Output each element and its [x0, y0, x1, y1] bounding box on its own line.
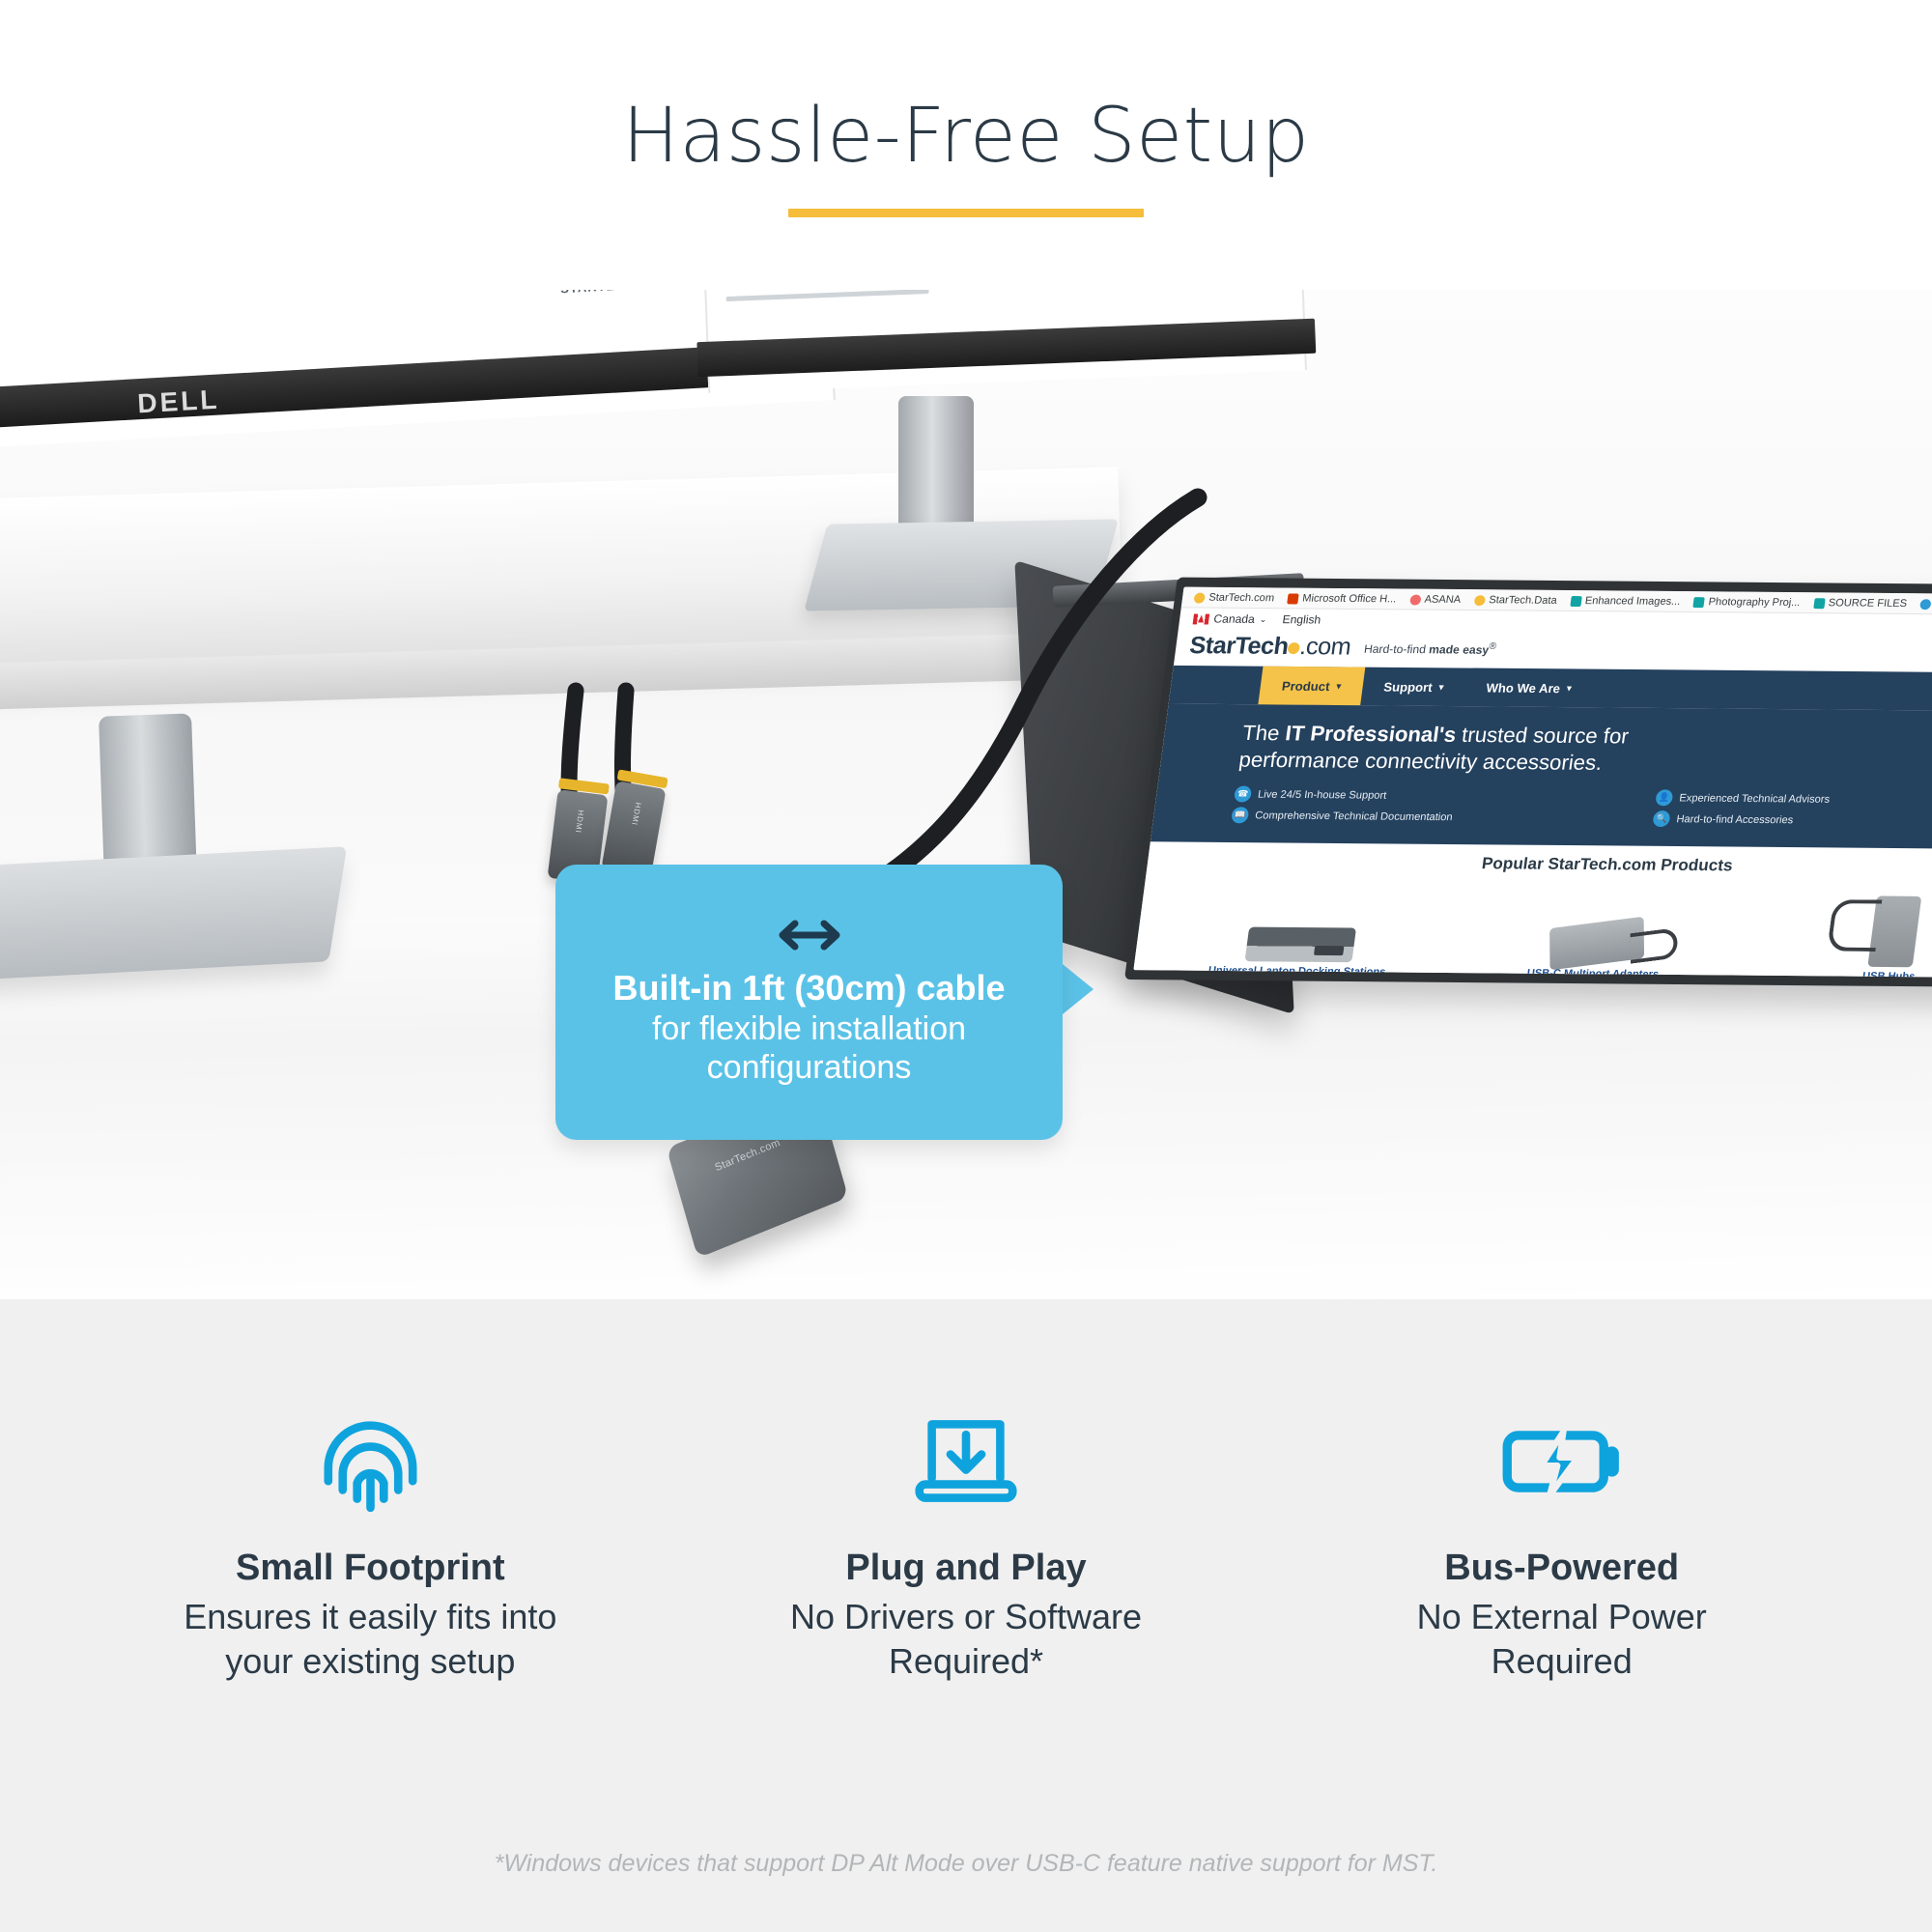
- bookmark-favicon-icon: [1194, 592, 1207, 603]
- bookmark-label: Enhanced Images...: [1584, 595, 1681, 608]
- laptop-screen-frame: StarTech.com Microsoft Office H... ASANA: [1124, 578, 1932, 988]
- bookmark-label: StarTech.com: [1208, 592, 1275, 604]
- country-selector[interactable]: Canada ⌄: [1192, 611, 1267, 626]
- products-row: Universal Laptop Docking Stations USB-C …: [1149, 878, 1932, 978]
- bookmark-label: Photography Proj...: [1708, 596, 1801, 609]
- bookmark-item[interactable]: StarTech.com: [1919, 598, 1932, 611]
- bookmark-item[interactable]: Microsoft Office H...: [1287, 592, 1397, 605]
- book-icon: 📖: [1231, 807, 1249, 823]
- bookmark-label: Microsoft Office H...: [1302, 593, 1398, 606]
- bookmark-favicon-icon: [1919, 599, 1932, 610]
- hero-bullet-label: Comprehensive Technical Documentation: [1255, 810, 1454, 823]
- bookmark-item[interactable]: ASANA: [1409, 594, 1462, 606]
- logo-text-secondary: .com: [1298, 633, 1352, 660]
- bookmark-item[interactable]: StarTech.com: [1193, 592, 1274, 605]
- person-icon: 👤: [1655, 789, 1673, 806]
- bookmark-favicon-icon: [1813, 598, 1826, 609]
- laptop-screen: StarTech.com Microsoft Office H... ASANA: [1133, 587, 1932, 979]
- language-selector[interactable]: English: [1282, 612, 1321, 626]
- feature-desc-line-2: Required: [1492, 1641, 1633, 1681]
- product-label: Universal Laptop Docking Stations: [1163, 964, 1431, 978]
- bookmark-favicon-icon: [1409, 594, 1422, 605]
- bookmark-favicon-icon: [1287, 593, 1299, 604]
- nav-item-product[interactable]: Product ▾: [1258, 667, 1365, 706]
- nav-item-support[interactable]: Support ▾: [1360, 668, 1467, 707]
- tagline-bold: made easy: [1428, 642, 1490, 656]
- plug-label: HDMI: [630, 802, 642, 827]
- fingerprint-icon: [315, 1406, 426, 1517]
- feature-desc: No External PowerRequired: [1417, 1595, 1707, 1684]
- marketing-page: Hassle-Free Setup Series 1 Series 1 Seri…: [0, 0, 1932, 1932]
- popular-products-section: Popular StarTech.com Products Universal …: [1133, 841, 1932, 978]
- product-card[interactable]: Universal Laptop Docking Stations: [1163, 878, 1442, 978]
- bookmark-item[interactable]: Enhanced Images...: [1570, 595, 1681, 608]
- bookmark-label: StarTech.Data: [1489, 594, 1558, 607]
- feature-desc-line-1: Ensures it easily fits into: [184, 1597, 556, 1636]
- hero-headline-a: The: [1241, 721, 1288, 745]
- tagline-trademark: ®: [1489, 640, 1497, 651]
- chevron-down-icon: ▾: [1566, 683, 1572, 694]
- feature-title: Plug and Play: [845, 1548, 1086, 1589]
- hero-bullet: 👤 Experienced Technical Advisors: [1655, 789, 1932, 809]
- hero-bullet: 🔍 Hard-to-find Accessories: [1652, 810, 1932, 830]
- hero-bullet: ☎ Live 24/5 In-house Support: [1234, 785, 1635, 805]
- logo-text-primary: StarTech: [1188, 632, 1291, 660]
- feature-desc-line-2: your existing setup: [225, 1641, 515, 1681]
- bookmark-label: ASANA: [1424, 594, 1462, 606]
- products-heading: Popular StarTech.com Products: [1162, 851, 1932, 878]
- page-header: Hassle-Free Setup: [0, 0, 1932, 290]
- dell-logo-left: DELL: [125, 384, 233, 424]
- bookmark-item[interactable]: StarTech.Data: [1474, 594, 1558, 607]
- features-section: Small Footprint Ensures it easily fits i…: [0, 1299, 1932, 1932]
- site-logo[interactable]: StarTech.com: [1188, 632, 1352, 661]
- bookmark-label: SOURCE FILES: [1828, 597, 1908, 610]
- feature-title: Bus-Powered: [1444, 1548, 1679, 1589]
- chevron-down-icon: ▾: [1336, 681, 1342, 692]
- product-card[interactable]: USB-C Multiport Adapters: [1459, 881, 1738, 979]
- callout-line-1: Built-in 1ft (30cm) cable: [612, 968, 1005, 1009]
- hero-headline-line2: performance connectivity accessories.: [1237, 747, 1604, 774]
- bookmark-item[interactable]: Photography Proj...: [1693, 596, 1802, 609]
- nav-label: Product: [1281, 678, 1330, 693]
- footnote: *Windows devices that support DP Alt Mod…: [0, 1850, 1932, 1878]
- document-text-line: [726, 290, 929, 301]
- hero-photo: Series 1 Series 1 Series 2 STARTECH.COM …: [0, 290, 1932, 1299]
- chevron-down-icon: ▾: [1438, 682, 1444, 693]
- hero-bullets: ☎ Live 24/5 In-house Support 👤 Experienc…: [1231, 785, 1932, 830]
- page-title: Hassle-Free Setup: [622, 93, 1309, 180]
- search-icon: 🔍: [1652, 810, 1670, 827]
- chevron-down-icon: ⌄: [1259, 614, 1267, 625]
- bookmark-favicon-icon: [1570, 596, 1582, 607]
- callout-line-2: for flexible installation: [652, 1009, 966, 1048]
- tagline-light: Hard-to-find: [1363, 641, 1430, 655]
- feature-small-footprint: Small Footprint Ensures it easily fits i…: [72, 1406, 668, 1684]
- plug-label: HDMI: [574, 810, 585, 834]
- nav-label: Support: [1383, 679, 1434, 694]
- nav-label: Who We Are: [1486, 680, 1561, 696]
- feature-desc-line-2: Required*: [889, 1641, 1043, 1681]
- feature-bus-powered: Bus-Powered No External PowerRequired: [1264, 1406, 1860, 1684]
- nav-item-who-we-are[interactable]: Who We Are ▾: [1463, 668, 1596, 708]
- title-accent-rule: [788, 209, 1144, 217]
- install-laptop-download-icon: [909, 1406, 1023, 1517]
- laptop-tent-mode: StarTech.com Microsoft Office H... ASANA: [1024, 425, 1932, 966]
- feature-desc: Ensures it easily fits intoyour existing…: [184, 1595, 556, 1684]
- hero-headline-b: IT Professional's: [1284, 721, 1458, 746]
- site-hero-band: The IT Professional's trusted source for…: [1151, 704, 1932, 850]
- monitor-right-stand-neck: [898, 396, 974, 541]
- bookmark-favicon-icon: [1693, 597, 1706, 608]
- hero-bullet-label: Live 24/5 In-house Support: [1257, 788, 1387, 801]
- hero-bullet-label: Experienced Technical Advisors: [1679, 792, 1831, 805]
- features-grid: Small Footprint Ensures it easily fits i…: [72, 1406, 1860, 1684]
- docking-station-icon: [1165, 878, 1442, 963]
- hero-bullet: 📖 Comprehensive Technical Documentation: [1231, 807, 1633, 826]
- usb-hub-icon: [1757, 884, 1932, 969]
- phone-icon: ☎: [1234, 785, 1252, 802]
- hero-bullet-label: Hard-to-find Accessories: [1676, 813, 1794, 826]
- product-label: USB Hubs: [1755, 970, 1932, 979]
- product-card[interactable]: USB Hubs: [1755, 884, 1932, 979]
- bookmark-item[interactable]: SOURCE FILES: [1813, 597, 1908, 610]
- callout-bubble: Built-in 1ft (30cm) cable for flexible i…: [555, 865, 1063, 1140]
- feature-desc-line-1: No Drivers or Software: [790, 1597, 1142, 1636]
- double-arrow-horizontal-icon: [775, 918, 844, 952]
- country-label: Canada: [1213, 612, 1256, 626]
- site-tagline: Hard-to-find made easy®: [1363, 639, 1497, 656]
- callout-line-3: configurations: [707, 1048, 912, 1087]
- bookmark-favicon-icon: [1474, 595, 1487, 606]
- monitor-left-stand-base: [0, 846, 347, 983]
- battery-charging-icon: [1501, 1406, 1622, 1517]
- feature-plug-and-play: Plug and Play No Drivers or SoftwareRequ…: [668, 1406, 1264, 1684]
- multiport-adapter-icon: [1461, 881, 1738, 966]
- product-label: USB-C Multiport Adapters: [1459, 967, 1726, 978]
- hero-headline-c: trusted source for: [1455, 723, 1631, 748]
- feature-title: Small Footprint: [236, 1548, 505, 1589]
- feature-desc-line-1: No External Power: [1417, 1597, 1707, 1636]
- hero-headline: The IT Professional's trusted source for…: [1237, 720, 1932, 780]
- canada-flag-icon: [1193, 613, 1210, 624]
- feature-desc: No Drivers or SoftwareRequired*: [790, 1595, 1142, 1684]
